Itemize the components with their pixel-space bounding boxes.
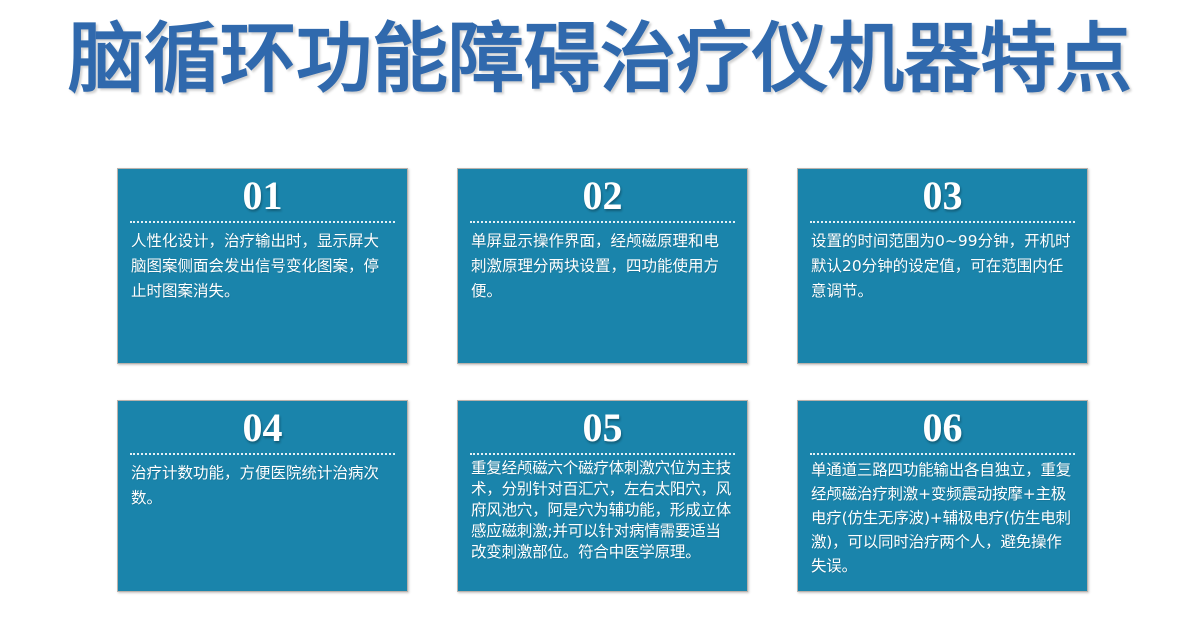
feature-card-grid: 01 人性化设计，治疗输出时，显示屏大脑图案侧面会发出信号变化图案，停止时图案消… [117, 168, 1089, 592]
card-number-03: 03 [798, 169, 1087, 219]
card-number-05: 05 [458, 401, 747, 451]
page-header: 脑循环功能障碍治疗仪机器特点 [0, 0, 1200, 118]
card-number-06: 06 [798, 401, 1087, 451]
poster-page: 脑循环功能障碍治疗仪机器特点 01 人性化设计，治疗输出时，显示屏大脑图案侧面会… [0, 0, 1200, 638]
card-body-05: 重复经颅磁六个磁疗体刺激穴位为主技术，分别针对百汇穴，左右太阳穴，风府风池穴，阿… [458, 455, 747, 563]
feature-card-02: 02 单屏显示操作界面，经颅磁原理和电刺激原理分两块设置，四功能使用方便。 [457, 168, 748, 364]
feature-card-01: 01 人性化设计，治疗输出时，显示屏大脑图案侧面会发出信号变化图案，停止时图案消… [117, 168, 408, 364]
card-number-04: 04 [118, 401, 407, 451]
card-body-04: 治疗计数功能，方便医院统计治病次数。 [118, 455, 407, 511]
feature-card-03: 03 设置的时间范围为0~99分钟，开机时默认20分钟的设定值，可在范围内任意调… [797, 168, 1088, 364]
card-body-01: 人性化设计，治疗输出时，显示屏大脑图案侧面会发出信号变化图案，停止时图案消失。 [118, 223, 407, 304]
card-body-02: 单屏显示操作界面，经颅磁原理和电刺激原理分两块设置，四功能使用方便。 [458, 223, 747, 304]
feature-card-05: 05 重复经颅磁六个磁疗体刺激穴位为主技术，分别针对百汇穴，左右太阳穴，风府风池… [457, 400, 748, 592]
card-number-01: 01 [118, 169, 407, 219]
feature-card-04: 04 治疗计数功能，方便医院统计治病次数。 [117, 400, 408, 592]
page-title: 脑循环功能障碍治疗仪机器特点 [68, 21, 1132, 97]
card-body-03: 设置的时间范围为0~99分钟，开机时默认20分钟的设定值，可在范围内任意调节。 [798, 223, 1087, 304]
card-number-02: 02 [458, 169, 747, 219]
feature-card-06: 06 单通道三路四功能输出各自独立，重复经颅磁治疗刺激+变频震动按摩+主极电疗(… [797, 400, 1088, 592]
card-body-06: 单通道三路四功能输出各自独立，重复经颅磁治疗刺激+变频震动按摩+主极电疗(仿生无… [798, 455, 1087, 578]
